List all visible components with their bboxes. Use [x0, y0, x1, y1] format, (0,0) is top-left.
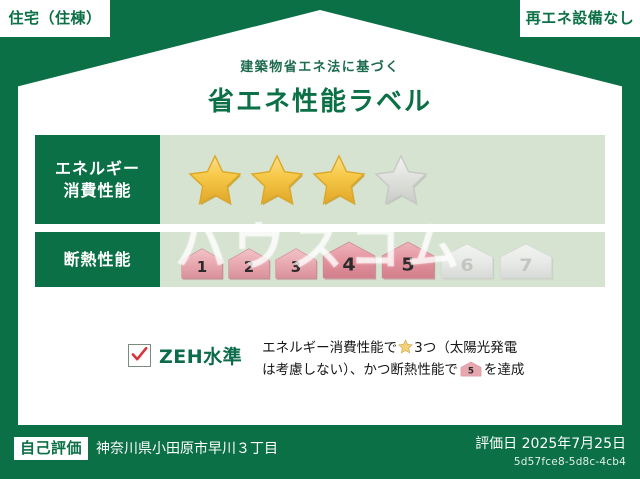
evaluation-date: 評価日 2025年7月25日: [475, 433, 626, 453]
house-grade-number: 2: [244, 258, 254, 276]
house-grade-filled-icon: 2: [227, 247, 271, 280]
energy-performance-row: エネルギー 消費性能: [35, 135, 605, 224]
footer: 自己評価 神奈川県小田原市早川３丁目 評価日 2025年7月25日 5d57fc…: [0, 425, 640, 479]
inline-star-icon: [398, 339, 413, 354]
house-grade-number: 5: [401, 255, 414, 275]
energy-performance-value-cell: [160, 135, 605, 224]
house-grade-number: 7: [519, 255, 532, 275]
house-grade-empty-icon: 7: [498, 242, 554, 280]
energy-label-line2: 消費性能: [63, 180, 131, 202]
renewable-equipment-tag-label: 再エネ設備なし: [526, 11, 635, 26]
zeh-block: ZEH水準 エネルギー消費性能で3つ（太陽光発電 は考慮しない）、かつ断熱性能で…: [128, 338, 548, 385]
inline-house-grade-icon: 5: [460, 361, 482, 377]
zeh-description: エネルギー消費性能で3つ（太陽光発電 は考慮しない）、かつ断熱性能で5を達成: [262, 338, 524, 385]
house-grade-number: 4: [342, 255, 355, 275]
star-filled-icon: [310, 152, 368, 208]
house-grade-number: 1: [197, 258, 207, 276]
house-grade-number: 3: [291, 258, 301, 276]
renewable-equipment-tag: 再エネ設備なし: [520, 0, 640, 37]
energy-performance-label: 住宅（住棟） 再エネ設備なし 建築物省エネ法に基づく 省エネ性能ラベル ハウスコ…: [0, 0, 640, 479]
footer-right: 評価日 2025年7月25日 5d57fce8-5d8c-4cb4: [475, 433, 626, 468]
zeh-desc-part4: を達成: [484, 362, 525, 378]
rating-panel: エネルギー 消費性能 断熱性能 1234567: [35, 135, 605, 287]
zeh-desc-part1: エネルギー消費性能で: [262, 340, 397, 356]
house-grade-scale: 1234567: [180, 240, 554, 280]
svg-text:5: 5: [468, 367, 474, 377]
zeh-standard-label: ZEH水準: [159, 342, 242, 369]
insulation-performance-label-cell: 断熱性能: [35, 232, 160, 287]
house-grade-number: 6: [460, 255, 473, 275]
energy-label-line1: エネルギー: [55, 158, 140, 180]
star-rating: [186, 152, 430, 208]
zeh-checkbox[interactable]: [128, 344, 151, 367]
footer-left: 自己評価 神奈川県小田原市早川３丁目: [14, 437, 278, 460]
star-filled-icon: [186, 152, 244, 208]
energy-performance-label-cell: エネルギー 消費性能: [35, 135, 160, 224]
building-type-tag-label: 住宅（住棟）: [8, 11, 101, 26]
star-empty-icon: [372, 152, 430, 208]
zeh-check-group: ZEH水準: [128, 342, 242, 369]
zeh-desc-part2: 3つ（太陽光発電: [414, 340, 517, 356]
insulation-label-line1: 断熱性能: [63, 249, 131, 271]
building-type-tag: 住宅（住棟）: [0, 0, 110, 37]
evaluation-hash: 5d57fce8-5d8c-4cb4: [475, 456, 626, 468]
self-evaluation-badge: 自己評価: [14, 437, 88, 460]
house-grade-filled-icon: 4: [321, 240, 377, 280]
house-grade-empty-icon: 6: [439, 242, 495, 280]
star-filled-icon: [248, 152, 306, 208]
house-grade-filled-icon: 1: [180, 247, 224, 280]
check-icon: [130, 345, 149, 364]
property-address: 神奈川県小田原市早川３丁目: [96, 438, 278, 458]
house-grade-filled-icon: 3: [274, 247, 318, 280]
house-grade-filled-icon: 5: [380, 240, 436, 280]
zeh-desc-part3: は考慮しない）、かつ断熱性能で: [262, 362, 458, 378]
zeh-grade-chip: 5: [460, 361, 482, 385]
insulation-performance-row: 断熱性能 1234567: [35, 232, 605, 287]
insulation-performance-value-cell: 1234567: [160, 232, 605, 287]
